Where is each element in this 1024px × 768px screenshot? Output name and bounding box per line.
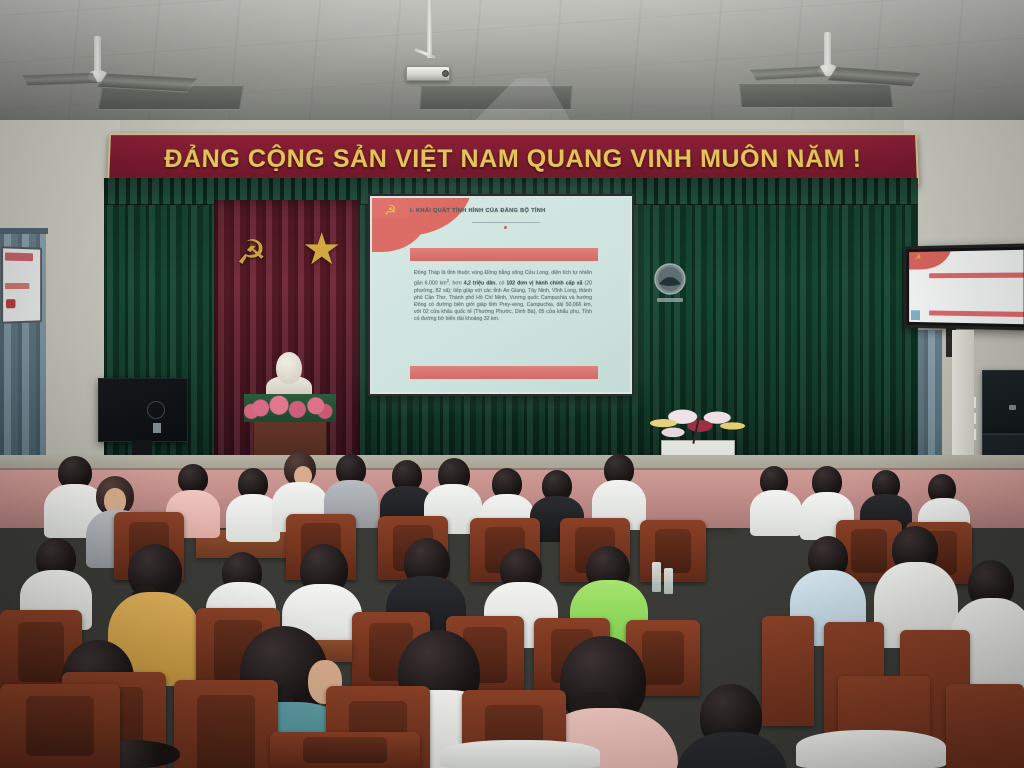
- bust-flower-arrangement: [244, 394, 336, 422]
- slide-red-corner-shape-2: [372, 218, 426, 252]
- chair[interactable]: [0, 684, 120, 768]
- slide-body-bold2: 102 đơn vị hành chính cấp xã: [506, 281, 582, 287]
- left-wall-monitor: [1, 246, 42, 324]
- attendee-body: [750, 490, 802, 536]
- audience-area: [0, 440, 1024, 768]
- slide-body-seg4: (20 phường, 82 xã); tiếp giáp với các tỉ…: [414, 281, 592, 322]
- slide-bottom-accent-bar: [410, 366, 598, 379]
- left-curtain-rail: [0, 228, 48, 234]
- slide-body-seg3: , có: [495, 281, 506, 287]
- attendee-body: [796, 730, 946, 768]
- projector-lens: [442, 70, 449, 77]
- slide-title-rule: [472, 222, 540, 223]
- slide-top-accent-bar: [410, 248, 598, 261]
- conference-hall-photo: ĐẢNG CỘNG SẢN VIỆT NAM QUANG VINH MUÔN N…: [0, 0, 1024, 768]
- ceiling-recess-right: [739, 84, 894, 108]
- slide-title: I- KHÁI QUÁT TÌNH HÌNH CỦA ĐẢNG BỘ TỈNH: [410, 208, 624, 214]
- right-wall-tv: ☭: [904, 243, 1024, 330]
- presentation-slide: ☭ I- KHÁI QUÁT TÌNH HÌNH CỦA ĐẢNG BỘ TỈN…: [372, 198, 630, 392]
- stage-monitor-left: [98, 378, 188, 442]
- ceiling-fan-right-stem: [824, 32, 831, 68]
- banner-text: ĐẢNG CỘNG SẢN VIỆT NAM QUANG VINH MUÔN N…: [109, 135, 917, 183]
- gold-star-icon: ★: [302, 228, 341, 272]
- slide-body-text: Đồng Tháp là tỉnh thuộc vùng Đồng bằng s…: [414, 270, 592, 323]
- wall-emblem-icon: [651, 262, 689, 306]
- slide-hammer-sickle-icon: ☭: [384, 202, 397, 219]
- ho-chi-minh-bust-head: [276, 352, 302, 384]
- chair[interactable]: [174, 680, 278, 768]
- chair[interactable]: [762, 616, 814, 726]
- water-bottle: [664, 568, 673, 594]
- slide-bullet-dot: [504, 226, 507, 229]
- chair[interactable]: [270, 732, 420, 768]
- water-bottle: [652, 562, 661, 592]
- chair[interactable]: [946, 684, 1024, 768]
- attendee-body: [676, 732, 788, 768]
- projector-mount-rod: [427, 0, 432, 58]
- projection-screen: ☭ I- KHÁI QUÁT TÌNH HÌNH CỦA ĐẢNG BỘ TỈN…: [368, 194, 634, 396]
- chair[interactable]: [640, 520, 706, 582]
- slide-body-bold1: 4,2 triệu dân: [464, 281, 496, 287]
- speaker-top: [982, 370, 1024, 434]
- attendee-body: [440, 740, 600, 768]
- slide-body-seg2: , hơn: [449, 281, 464, 287]
- hammer-sickle-icon: ☭: [236, 236, 266, 270]
- tv-screen-content: ☭: [909, 250, 1024, 324]
- ceiling-fan-left-stem: [94, 36, 101, 74]
